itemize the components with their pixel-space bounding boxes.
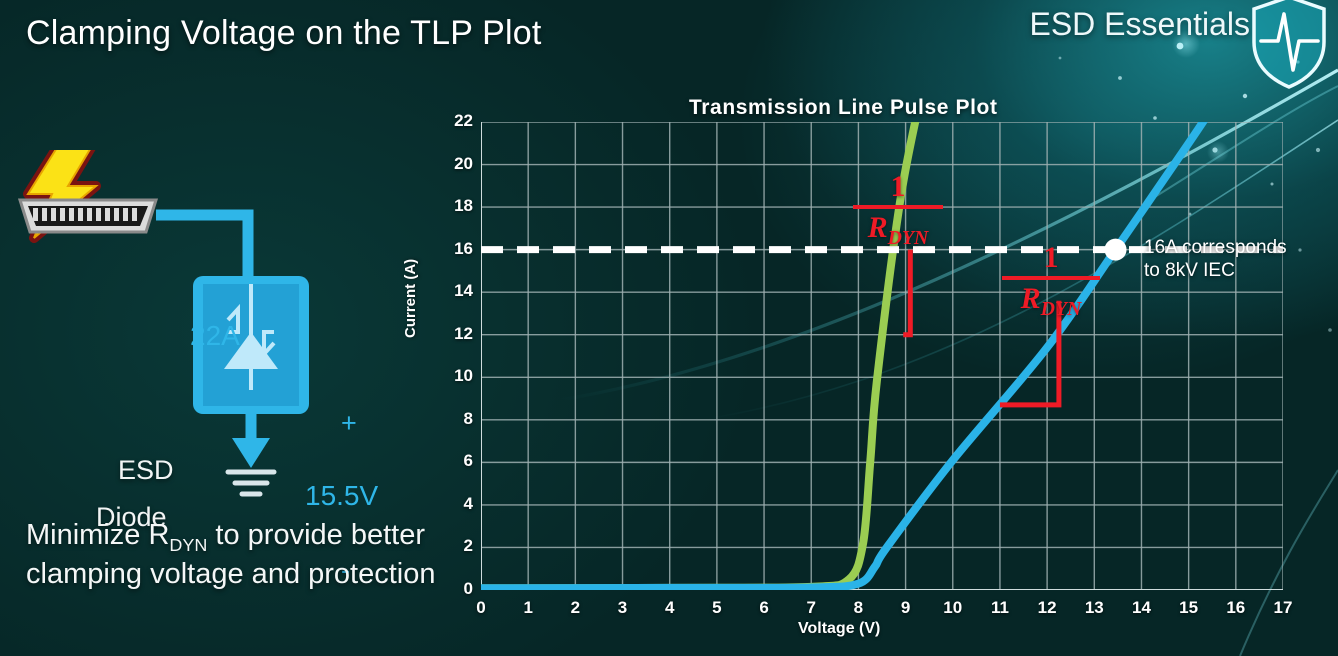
- x-tick-label: 0: [468, 598, 494, 618]
- hdmi-connector-icon: [20, 200, 156, 232]
- x-tick-label: 8: [845, 598, 871, 618]
- x-tick-label: 9: [893, 598, 919, 618]
- callout-line-1: 16A corresponds: [1144, 236, 1287, 259]
- fraction-bar: [853, 205, 943, 209]
- fraction-numerator: 1: [853, 172, 943, 202]
- x-tick-label: 1: [515, 598, 541, 618]
- x-tick-label: 2: [562, 598, 588, 618]
- fraction-bar: [1002, 276, 1100, 280]
- y-tick-label: 6: [433, 451, 473, 471]
- x-tick-label: 7: [798, 598, 824, 618]
- shield-pulse-icon: [1248, 0, 1330, 90]
- x-tick-label: 17: [1270, 598, 1296, 618]
- bottom-note-subscript: DYN: [169, 535, 207, 555]
- x-tick-label: 14: [1128, 598, 1154, 618]
- y-tick-label: 10: [433, 366, 473, 386]
- y-tick-label: 2: [433, 536, 473, 556]
- esd-label: ESD: [118, 455, 174, 486]
- y-tick-label: 4: [433, 494, 473, 514]
- fraction-denominator: RDYN: [1002, 283, 1100, 320]
- x-tick-label: 3: [610, 598, 636, 618]
- ground-icon: [228, 472, 274, 494]
- tlp-chart: Transmission Line Pulse Plot Current (A)…: [408, 88, 1338, 656]
- x-tick-label: 13: [1081, 598, 1107, 618]
- voltage-label: 15.5V: [305, 480, 378, 512]
- marker-point-0: [1105, 239, 1127, 261]
- y-tick-label: 8: [433, 409, 473, 429]
- y-tick-label: 20: [433, 154, 473, 174]
- y-tick-label: 22: [433, 111, 473, 131]
- x-tick-label: 6: [751, 598, 777, 618]
- x-tick-label: 16: [1223, 598, 1249, 618]
- brand-name: ESD Essentials: [1029, 6, 1250, 43]
- y-tick-label: 16: [433, 239, 473, 259]
- current-arrow-icon: [232, 438, 270, 468]
- slope-green-fraction: 1 RDYN: [853, 172, 943, 249]
- callout-line-2: to 8kV IEC: [1144, 259, 1287, 282]
- slide-canvas: Clamping Voltage on the TLP Plot ESD Ess…: [0, 0, 1338, 656]
- fraction-numerator: 1: [1002, 243, 1100, 273]
- y-tick-label: 18: [433, 196, 473, 216]
- circuit-wires: [156, 215, 248, 276]
- polarity-plus-label: +: [341, 408, 357, 439]
- x-tick-label: 12: [1034, 598, 1060, 618]
- callout-16A: 16A corresponds to 8kV IEC: [1144, 236, 1287, 282]
- x-tick-label: 10: [940, 598, 966, 618]
- slope-blue-fraction: 1 RDYN: [1002, 243, 1100, 320]
- bottom-note-pre: Minimize R: [26, 519, 169, 551]
- series-group: [481, 122, 1217, 588]
- x-tick-label: 4: [657, 598, 683, 618]
- x-tick-label: 11: [987, 598, 1013, 618]
- x-tick-label: 15: [1176, 598, 1202, 618]
- chart-title: Transmission Line Pulse Plot: [689, 96, 998, 120]
- fraction-denominator: RDYN: [853, 212, 943, 249]
- bottom-note: Minimize RDYN to provide better clamping…: [26, 517, 446, 593]
- series-line-1: [481, 122, 1217, 588]
- page-title: Clamping Voltage on the TLP Plot: [26, 14, 542, 53]
- y-tick-label: 12: [433, 324, 473, 344]
- y-tick-label: 14: [433, 281, 473, 301]
- y-axis-title: Current (A): [402, 259, 419, 338]
- x-tick-label: 5: [704, 598, 730, 618]
- esd-circuit-diagram: ESD Diode 22A 15.5V + -: [0, 150, 420, 510]
- current-label: 22A: [190, 320, 240, 352]
- y-tick-label: 0: [433, 579, 473, 599]
- x-axis-title: Voltage (V): [798, 620, 880, 638]
